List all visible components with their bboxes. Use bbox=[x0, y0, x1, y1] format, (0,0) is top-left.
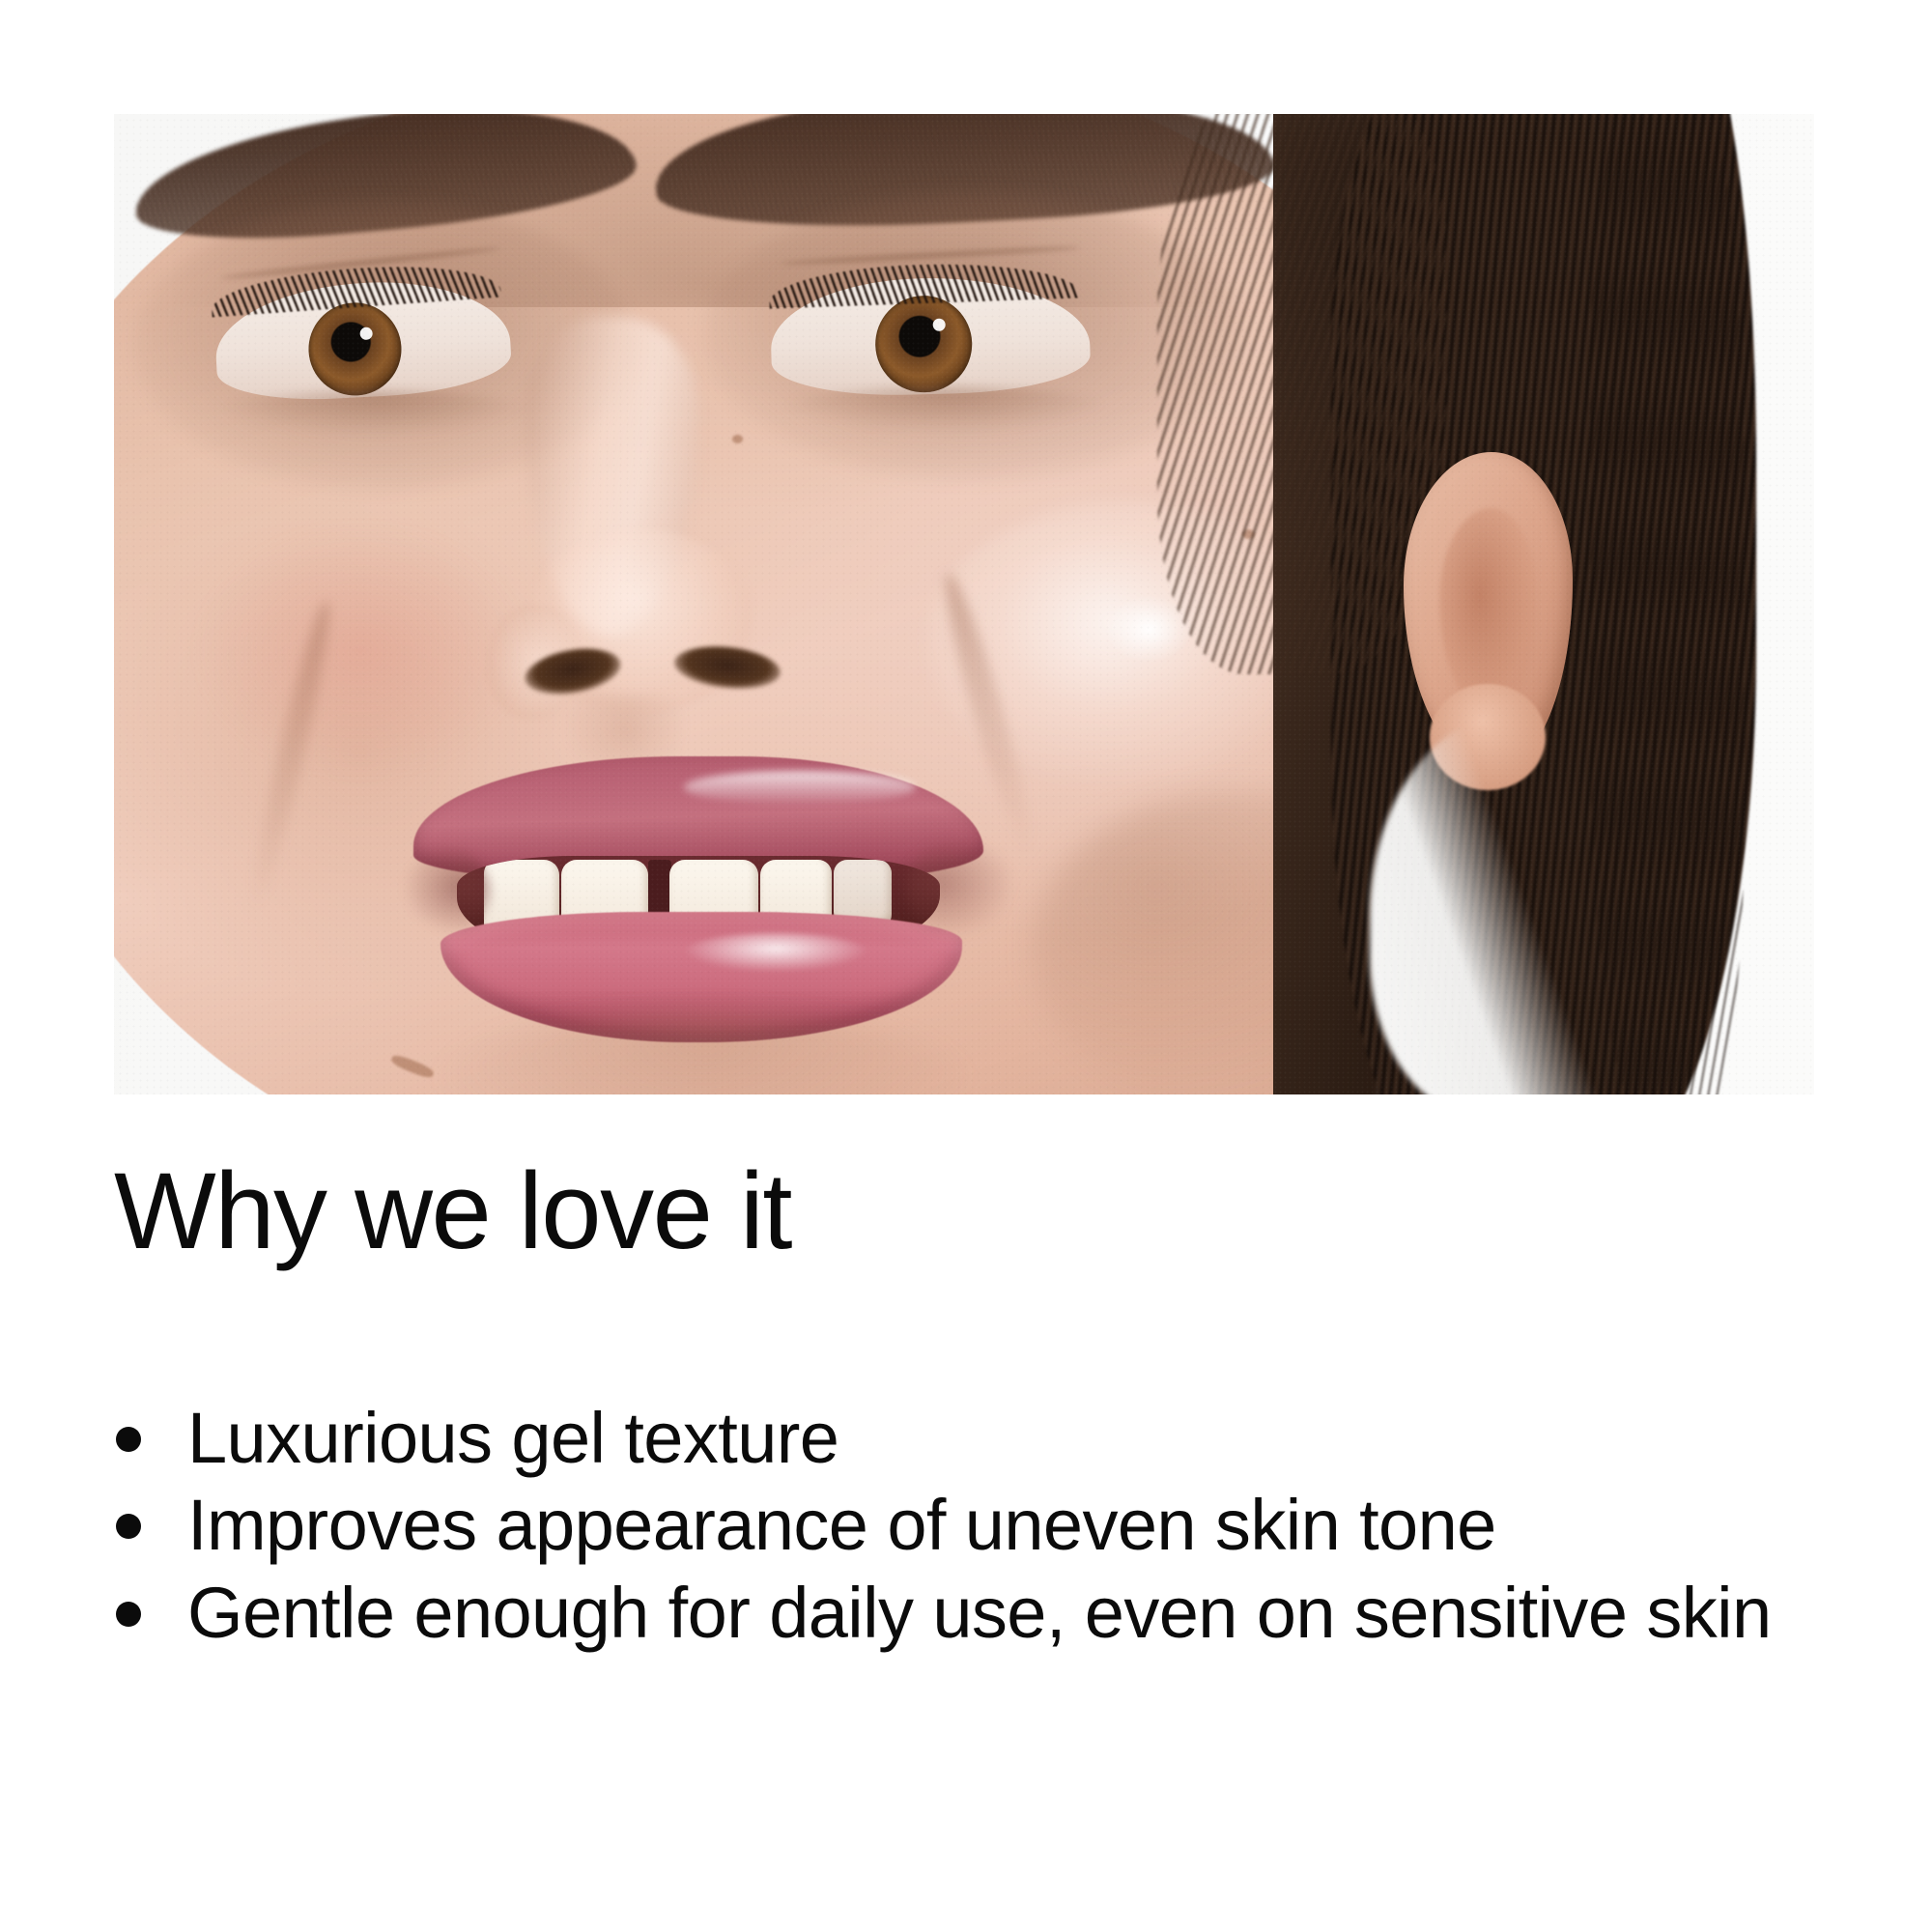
bullet-dot-icon bbox=[116, 1602, 141, 1627]
list-item: Improves appearance of uneven skin tone bbox=[116, 1488, 1845, 1563]
list-item: Gentle enough for daily use, even on sen… bbox=[116, 1576, 1845, 1651]
undereye-left bbox=[220, 390, 529, 435]
iris-right bbox=[874, 295, 974, 394]
model-photo bbox=[114, 114, 1814, 1094]
list-item-label: Gentle enough for daily use, even on sen… bbox=[187, 1576, 1772, 1651]
list-item: Luxurious gel texture bbox=[116, 1401, 1845, 1476]
lower-lip-gloss bbox=[684, 933, 867, 972]
iris-left bbox=[306, 300, 404, 398]
mouth-corner-left bbox=[404, 848, 491, 935]
hero-image bbox=[114, 114, 1814, 1094]
mouth-corner-right bbox=[906, 840, 1012, 937]
undereye-right bbox=[781, 386, 1109, 431]
product-detail-page: Why we love it Luxurious gel texture Imp… bbox=[0, 0, 1932, 1932]
benefits-list: Luxurious gel texture Improves appearanc… bbox=[116, 1401, 1845, 1662]
content-block: Why we love it Luxurious gel texture Imp… bbox=[114, 1157, 1853, 1265]
list-item-label: Luxurious gel texture bbox=[187, 1401, 1772, 1476]
page-title: Why we love it bbox=[114, 1157, 1853, 1265]
mouth-region bbox=[404, 732, 993, 1061]
skin-freckle bbox=[732, 435, 743, 443]
list-item-label: Improves appearance of uneven skin tone bbox=[187, 1488, 1772, 1563]
jaw-backdrop-edge bbox=[1370, 713, 1660, 1094]
bullet-dot-icon bbox=[116, 1514, 141, 1539]
bullet-dot-icon bbox=[116, 1427, 141, 1452]
upper-lip-gloss bbox=[684, 771, 916, 804]
